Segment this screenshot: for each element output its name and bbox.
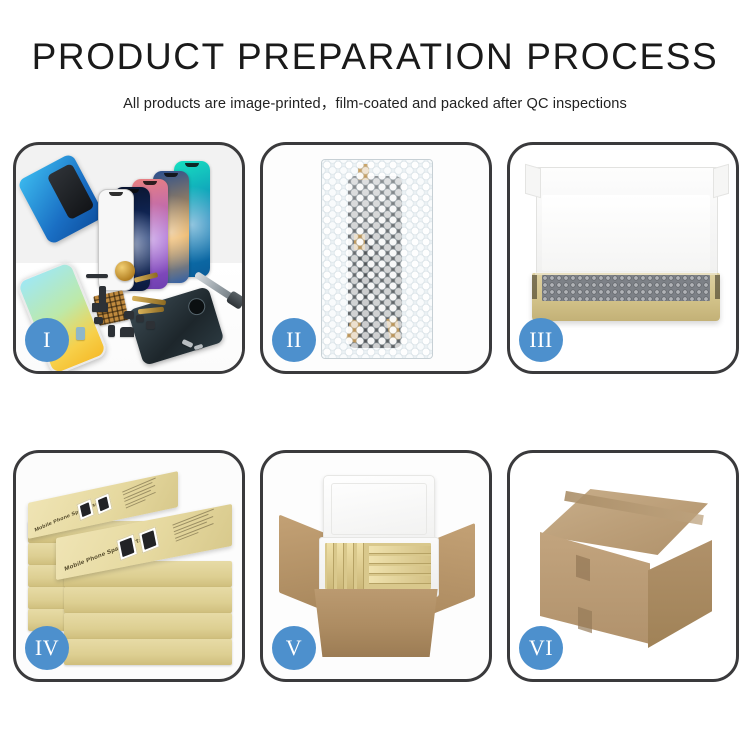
page-header: PRODUCT PREPARATION PROCESS All products… [0,0,750,113]
page-subtitle: All products are image-printed，film-coat… [0,92,750,113]
small-part-icon [86,274,108,278]
small-part-icon [94,317,103,324]
box-window-icon [76,498,94,521]
grey-foam-padding-icon [542,275,710,301]
small-part-icon [99,286,106,312]
step-panel-3: III [507,142,739,374]
step-badge-4: IV [25,626,69,670]
small-part-icon [120,327,134,337]
box-spec-lines [122,478,159,511]
blue-phone-icon [17,153,106,246]
sim-tray-icon [76,327,85,340]
step-panel-1: I [13,142,245,374]
page-title: PRODUCT PREPARATION PROCESS [0,38,750,75]
small-part-icon [146,321,155,329]
packed-boxes-icon [325,543,431,589]
step-badge-6: VI [519,626,563,670]
small-part-icon [108,325,115,337]
carton-tape-icon [576,555,590,582]
bubble-wrap-bag-icon [321,159,433,359]
box-spec-lines [172,509,217,544]
small-part-icon [136,315,144,322]
step-panel-4: Mobile Phone Spare Parts Mobile Phone Sp… [13,450,245,682]
step-badge-2: II [272,318,316,362]
sealed-carton-icon [532,489,720,647]
kraft-box-icon [64,639,232,665]
box-window-icon [94,492,112,515]
box-corner-icon [532,275,537,299]
step-badge-1: I [25,318,69,362]
kraft-box-icon [64,613,232,639]
step-badge-5: V [272,626,316,670]
bubble-texture [322,160,432,358]
box-window-icon [138,526,160,554]
carton-body-icon [309,589,443,657]
foam-lid-icon [323,475,435,543]
box-window-icon [116,533,138,561]
step-badge-3: III [519,318,563,362]
camera-lens-icon [115,261,135,281]
step-panel-5: V [260,450,492,682]
box-corner-icon [715,275,720,299]
kraft-box-icon [64,587,232,613]
process-steps-grid: I II III [13,142,739,682]
step-panel-6: VI [507,450,739,682]
white-foam-sheet-icon [542,195,710,271]
carton-tape-icon [578,607,592,634]
step-panel-2: II [260,142,492,374]
small-part-icon [124,311,134,319]
